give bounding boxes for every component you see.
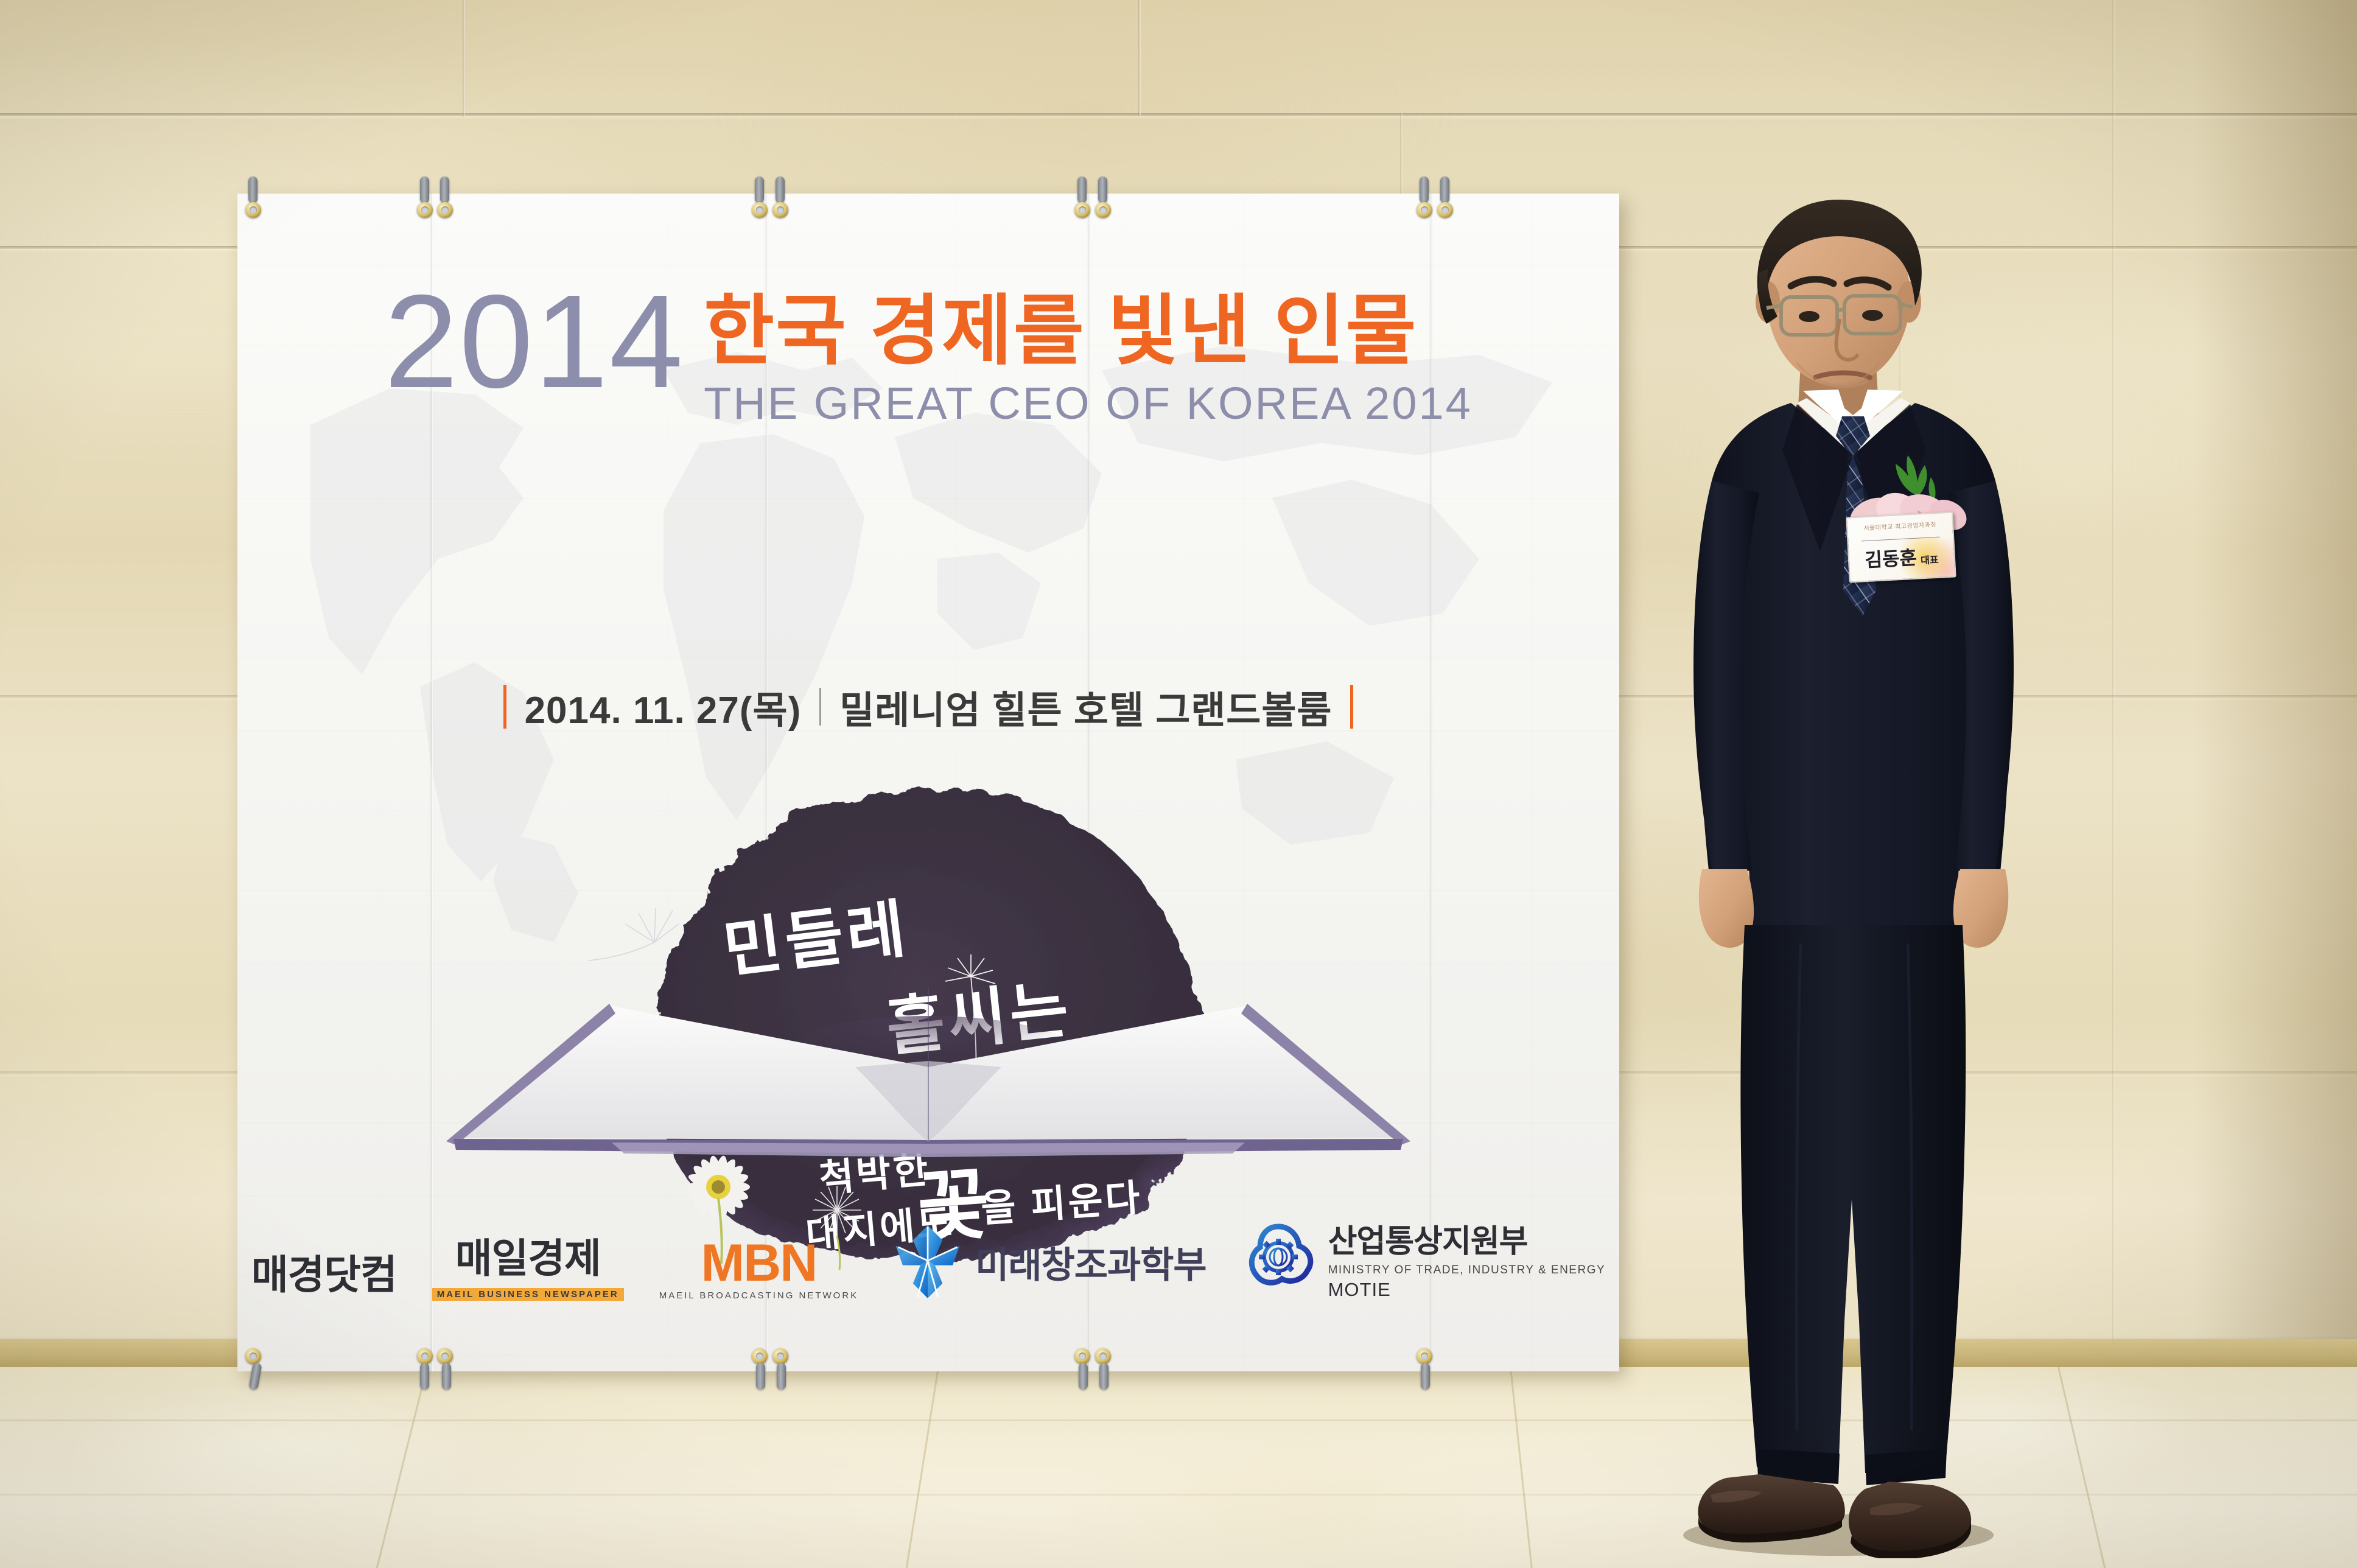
banner-title-korean: 한국 경제를 빛낸 인물 [704,290,1473,373]
sponsor-maeil-economy: 매일경제 MAEIL BUSINESS NEWSPAPER [432,1226,624,1301]
banner-grommet [1074,1348,1090,1364]
banner-year: 2014 [384,285,684,399]
banner-headline: 2014 한국 경제를 빛낸 인물 THE GREAT CEO OF KOREA… [237,285,1619,426]
open-book-graphic [429,988,1427,1171]
event-venue: 밀레니엄 힐튼 호텔 그랜드볼룸 [839,679,1332,734]
badge-org-mark: 서울대학교 최고경영자과정 [1847,519,1953,533]
sponsor-name: 매일경제 [455,1226,601,1284]
event-date: 2014. 11. 27(목) [525,679,802,734]
banner-grommet [417,202,433,218]
banner-grommet [1095,1348,1111,1364]
meta-right-tick [1350,685,1353,729]
sponsor-tagline: MINISTRY OF TRADE, INDUSTRY & ENERGY [1328,1264,1606,1277]
photo-scene: 2014 한국 경제를 빛낸 인물 THE GREAT CEO OF KOREA… [0,0,2357,1568]
msip-pinwheel-icon [894,1223,962,1301]
floating-dandelion-seed-icon [587,900,685,979]
sponsor-name: 산업통상지원부 [1328,1216,1606,1261]
name-badge: 서울대학교 최고경영자과정 김동훈대표 [1846,511,1956,583]
banner-grommet [417,1348,433,1364]
sponsor-abbreviation: MOTIE [1328,1279,1606,1301]
banner-grommet [1074,202,1090,218]
banner-grommet [772,202,788,218]
banner-grommet [752,202,768,218]
badge-person-role: 대표 [1921,555,1939,567]
sponsor-name: 매경닷컴 [251,1242,397,1301]
motie-emblem-icon [1242,1222,1315,1295]
sponsor-motie: 산업통상지원부 MINISTRY OF TRADE, INDUSTRY & EN… [1242,1216,1606,1301]
sponsor-name: 미래창조과학부 [975,1236,1206,1289]
banner-grommet [752,1348,768,1364]
banner-grommet [1417,1348,1432,1364]
event-backdrop-banner: 2014 한국 경제를 빛낸 인물 THE GREAT CEO OF KOREA… [237,194,1619,1371]
sponsor-tagline: MAEIL BROADCASTING NETWORK [659,1290,858,1301]
banner-grommet [245,202,261,218]
banner-title-english: THE GREAT CEO OF KOREA 2014 [704,381,1473,426]
sponsor-tagline: MAEIL BUSINESS NEWSPAPER [432,1288,624,1301]
meta-left-tick [503,685,506,729]
sponsor-name: MBN [701,1240,817,1287]
sponsor-logo-row: 매경닷컴 매일경제 MAEIL BUSINESS NEWSPAPER MBN M… [237,1216,1619,1301]
person-standing [1637,164,2039,1558]
sponsor-msip: 미래창조과학부 [894,1223,1206,1301]
badge-name: 김동훈대표 [1849,541,1955,573]
banner-grommet [245,1348,261,1364]
banner-grommet [1437,202,1453,218]
banner-grommet [1417,202,1432,218]
banner-meta-bar: 2014. 11. 27(목) 밀레니엄 힐튼 호텔 그랜드볼룸 [237,679,1619,734]
banner-grommet [772,1348,788,1364]
banner-grommet [437,1348,453,1364]
banner-grommet [437,202,453,218]
wall-right-shadow [2193,0,2357,1367]
sponsor-mbn: MBN MAEIL BROADCASTING NETWORK [659,1240,858,1301]
sponsor-maekyung-dotcom: 매경닷컴 [251,1242,397,1301]
meta-divider [819,688,821,726]
badge-person-name: 김동훈 [1865,547,1917,571]
banner-grommet [1095,202,1111,218]
